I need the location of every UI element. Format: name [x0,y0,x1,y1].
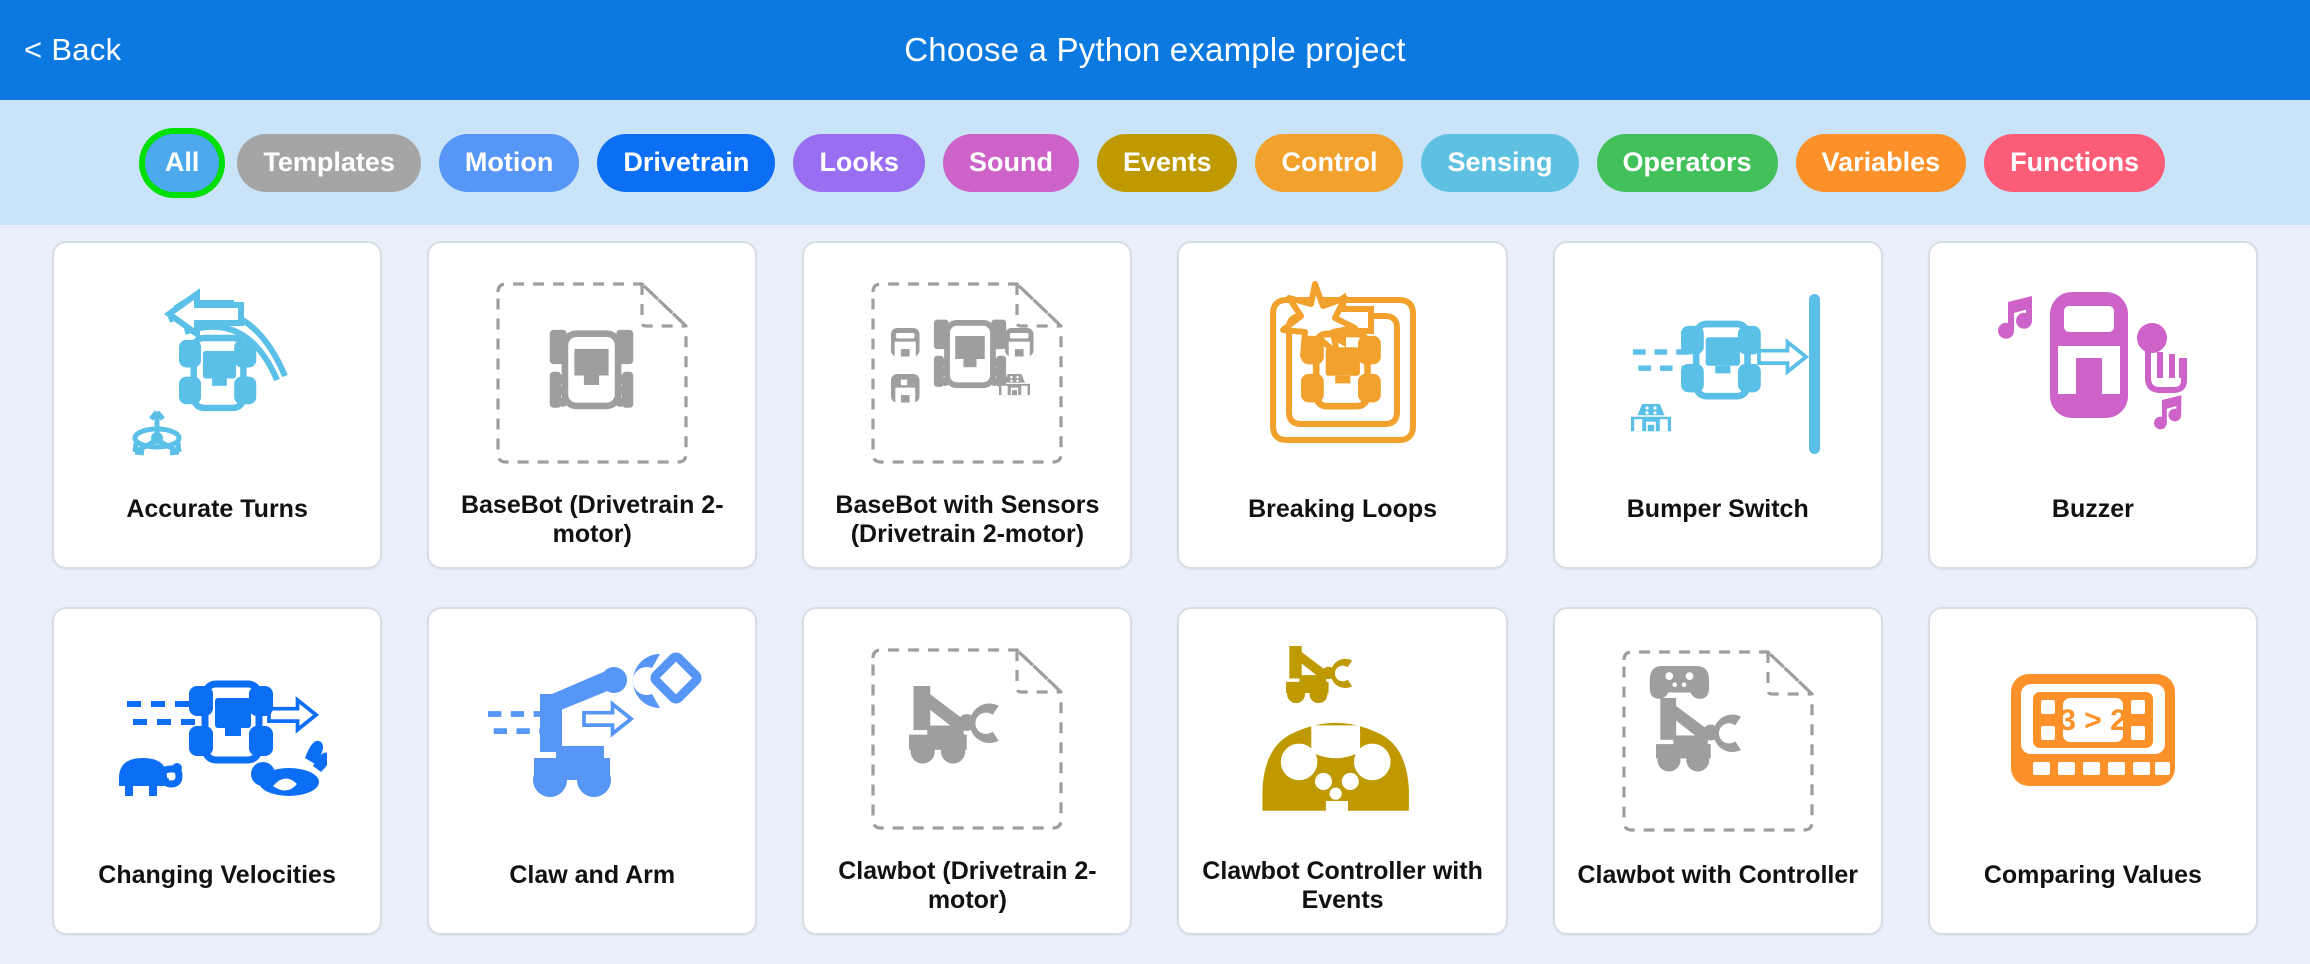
project-card-title-text: Breaking Loops [1248,495,1437,524]
filter-pill-label: Sensing [1447,147,1552,178]
project-card-title: Clawbot Controller with Events [1179,857,1505,933]
project-card-title-text: Clawbot with Controller [1577,861,1858,890]
page-title: Choose a Python example project [0,31,2310,69]
project-card[interactable]: Accurate Turns [52,241,382,569]
project-grid-container: Accurate Turns BaseBot (Drivetrain 2-mot… [0,225,2310,964]
filter-pill-label: Control [1281,147,1377,178]
project-card-title: BaseBot with Sensors (Drivetrain 2-motor… [804,491,1130,567]
project-card-title-text: BaseBot with Sensors (Drivetrain 2-motor… [814,491,1120,549]
filter-pill-label: Templates [263,147,395,178]
project-card-title-text: Accurate Turns [126,495,308,524]
filter-pill-drivetrain[interactable]: Drivetrain [597,134,775,192]
filter-pill-label: Looks [819,147,899,178]
project-card-title: Clawbot (Drivetrain 2-motor) [804,857,1130,933]
project-card-title: Breaking Loops [1179,495,1505,567]
filter-pill-label: Drivetrain [623,147,749,178]
filter-pill-label: Sound [969,147,1053,178]
filter-pill-label: Motion [465,147,553,178]
brain-screen-compare-icon: 3 > 2 [1930,609,2256,861]
category-filter-bar: AllTemplatesMotionDrivetrainLooksSoundEv… [0,100,2310,225]
clawbot-controller-template-icon [1555,609,1881,861]
filter-pill-templates[interactable]: Templates [237,134,421,192]
filter-pill-label: Variables [1822,147,1941,178]
project-card[interactable]: Clawbot Controller with Events [1177,607,1507,935]
filter-pill-control[interactable]: Control [1255,134,1403,192]
project-grid: Accurate Turns BaseBot (Drivetrain 2-mot… [52,241,2258,935]
brain-turn-arrow-icon [54,243,380,495]
project-card-title: Comparing Values [1930,861,2256,933]
project-card-title: Claw and Arm [429,861,755,933]
filter-pill-label: Events [1123,147,1212,178]
filter-pill-events[interactable]: Events [1097,134,1238,192]
filter-pill-label: Operators [1623,147,1752,178]
project-card-title-text: Claw and Arm [509,861,675,890]
project-card[interactable]: Bumper Switch [1553,241,1883,569]
project-card-title-text: Bumper Switch [1627,495,1809,524]
project-card-title-text: Buzzer [2052,495,2134,524]
project-card[interactable]: Clawbot with Controller [1553,607,1883,935]
bumper-switch-wall-icon [1555,243,1881,495]
project-card-title: BaseBot (Drivetrain 2-motor) [429,491,755,567]
project-card[interactable]: Buzzer [1928,241,2258,569]
filter-pill-functions[interactable]: Functions [1984,134,2165,192]
app-header: < Back Choose a Python example project [0,0,2310,100]
turtle-rabbit-speed-icon [54,609,380,861]
svg-text:3 > 2: 3 > 2 [2059,704,2127,737]
project-card-title-text: Comparing Values [1984,861,2202,890]
filter-pill-sensing[interactable]: Sensing [1421,134,1578,192]
project-card[interactable]: BaseBot (Drivetrain 2-motor) [427,241,757,569]
project-card-title-text: Changing Velocities [98,861,336,890]
filter-pill-variables[interactable]: Variables [1796,134,1967,192]
project-card[interactable]: Breaking Loops [1177,241,1507,569]
claw-arm-robot-icon [429,609,755,861]
clawbot-template-icon [804,609,1130,857]
filter-pill-label: All [165,147,200,178]
project-card[interactable]: 3 > 2 Comparing Values [1928,607,2258,935]
project-card-title: Clawbot with Controller [1555,861,1881,933]
filter-pill-looks[interactable]: Looks [793,134,925,192]
back-button[interactable]: < Back [18,28,127,72]
buzzer-music-notes-icon [1930,243,2256,495]
basebot-template-icon [429,243,755,491]
project-card[interactable]: Clawbot (Drivetrain 2-motor) [802,607,1132,935]
filter-pill-label: Functions [2010,147,2139,178]
project-card-title-text: Clawbot Controller with Events [1189,857,1495,915]
clawbot-gamepad-icon [1179,609,1505,857]
project-card-title: Changing Velocities [54,861,380,933]
project-card[interactable]: BaseBot with Sensors (Drivetrain 2-motor… [802,241,1132,569]
project-card[interactable]: Changing Velocities [52,607,382,935]
project-card-title: Buzzer [1930,495,2256,567]
loop-break-star-icon [1179,243,1505,495]
filter-pill-operators[interactable]: Operators [1597,134,1778,192]
basebot-sensors-template-icon [804,243,1130,491]
filter-pill-all[interactable]: All [145,134,220,192]
project-card-title: Accurate Turns [54,495,380,567]
project-card-title-text: BaseBot (Drivetrain 2-motor) [439,491,745,549]
project-card-title-text: Clawbot (Drivetrain 2-motor) [814,857,1120,915]
project-card[interactable]: Claw and Arm [427,607,757,935]
project-card-title: Bumper Switch [1555,495,1881,567]
filter-pill-motion[interactable]: Motion [439,134,579,192]
filter-pill-sound[interactable]: Sound [943,134,1079,192]
